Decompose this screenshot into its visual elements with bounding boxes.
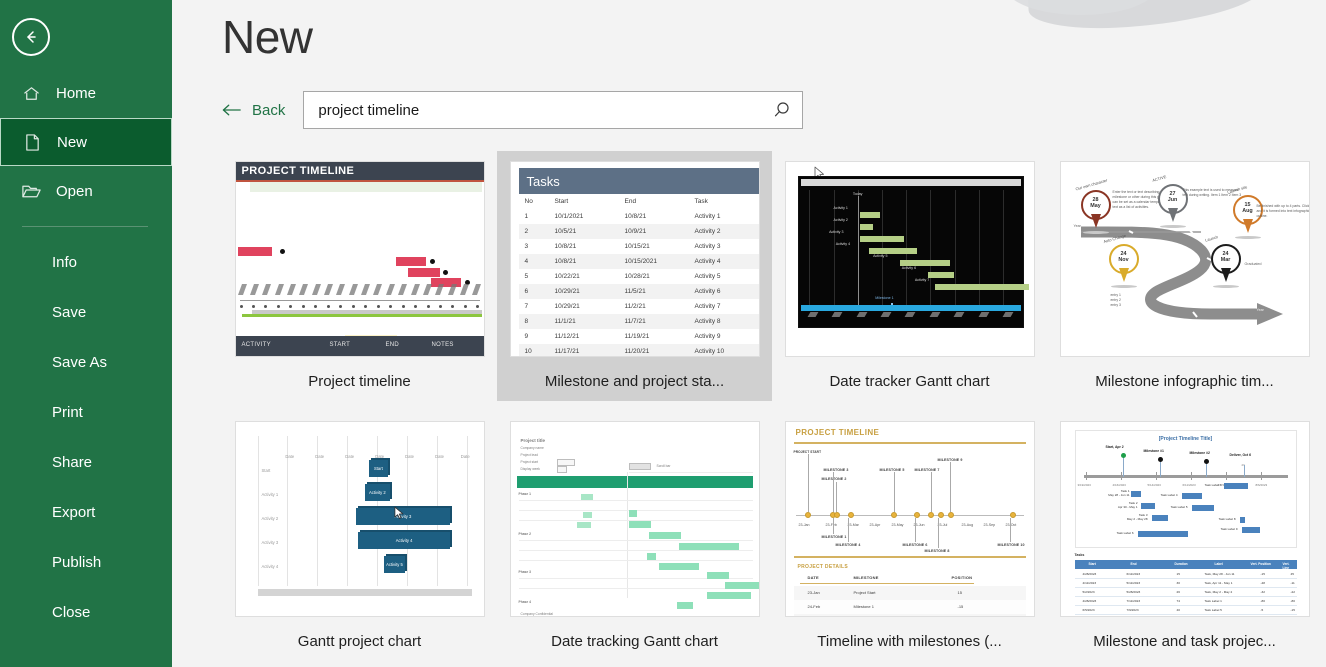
back-circle-button[interactable] [12,18,50,56]
table-row: 4 10/8/21 10/15/2021 Activity 4 [519,254,759,269]
back-link[interactable]: Back [222,102,285,119]
backstage-sidebar: Home New Open Info Save [0,0,172,667]
new-template-pane: New Back [172,0,1326,667]
table-row [794,586,1026,600]
thumb6-bar [659,563,699,570]
thumb8-canvas: [Project Timeline Title] 3/19/2023 4/16/… [1061,422,1309,616]
sidebar-item-close[interactable]: Close [0,587,172,637]
sidebar-item-label: New [57,134,87,151]
thumb3-bar [860,224,873,230]
template-card-label: Project timeline [308,373,411,390]
arrow-left-icon [222,103,243,117]
sidebar-item-share[interactable]: Share [0,437,172,487]
table-row: 4/11/2023 5/11/2023 30 Task, Apr 11 - Ma… [1075,579,1297,588]
sidebar-item-label: Export [52,504,95,521]
table-row: 8 11/1/21 11/7/21 Activity 8 [519,314,759,329]
template-card-milestone-and-project-status[interactable]: Tasks No Start End Task 1 10/1/2021 [497,151,772,401]
thumb1-col-activity: ACTIVITY [242,342,271,348]
table-row: 4/28/2023 7/11/2023 74 Task Label 1 -80 … [1075,597,1297,606]
thumb7-canvas: PROJECT TIMELINE PROJECT START MILESTONE… [786,422,1034,616]
thumb6-bar [647,553,656,560]
thumb8-bar [1242,527,1260,533]
thumb7-rule [794,556,1026,557]
sidebar-item-info[interactable]: Info [0,237,172,287]
table-row: 5 10/22/21 10/28/21 Activity 5 [519,269,759,284]
back-link-label: Back [252,102,285,119]
thumb2-table: No Start End Task 1 10/1/2021 10/8/21 Ac… [519,194,759,332]
search-row: Back [222,91,1326,129]
thumb1-chip-milestone-1 [396,257,426,266]
template-card-label: Date tracking Gantt chart [551,633,718,650]
thumb4-pin: Our own character 28May [1081,190,1111,234]
thumb3-timeline-bar [801,305,1021,311]
thumb8-bar [1192,505,1214,511]
template-card-date-tracking-gantt-chart[interactable]: Project title Company name Project lead … [497,411,772,661]
thumb8-bar [1224,483,1248,489]
template-card-date-tracker-gantt-chart[interactable]: Today Activity 1 Activity 2 Activity 3 A… [772,151,1047,401]
thumb5-bar: Activity 5 [384,556,405,573]
thumb3-top-strip [801,179,1021,186]
thumb3-today-label: Today [853,192,863,196]
thumb6-bar [629,521,651,528]
thumb8-title: [Project Timeline Title] [1076,436,1296,442]
sidebar-item-save[interactable]: Save [0,287,172,337]
thumb1-dot [443,270,448,275]
thumb1-axis [240,300,480,301]
template-thumbnail: Our own character 28May Enter the text o… [1060,161,1310,357]
search-input[interactable] [318,102,772,119]
thumb3-today-line [858,196,859,305]
thumb7-rule [794,442,1026,443]
thumb1-col-notes: NOTES [432,342,454,348]
sidebar-item-label: Publish [52,554,101,571]
sidebar-item-save-as[interactable]: Save As [0,337,172,387]
table-row: 3 10/8/21 10/15/21 Activity 3 [519,239,759,254]
page-icon [21,133,43,152]
table-row: 6/5/2023 7/9/2023 40 Task Label 5 -5 -15 [1075,606,1297,615]
thumb5-bar: Activity 2 [365,484,391,501]
thumb5-bar: Start [369,460,388,477]
sidebar-item-label: Close [52,604,90,621]
thumb1-chip-project-start [238,247,272,256]
thumb2-col-task: Task [695,198,759,205]
thumb6-bar [679,543,739,550]
thumb3-bar [860,212,880,218]
thumb6-canvas: Project title Company name Project lead … [511,422,759,616]
thumb3-date-ticks [801,312,1021,325]
thumb8-chart: [Project Timeline Title] 3/19/2023 4/16/… [1075,430,1297,548]
thumb6-bar [707,572,729,579]
sidebar-item-print[interactable]: Print [0,387,172,437]
sidebar-item-export[interactable]: Export [0,487,172,537]
thumb1-dot [430,259,435,264]
table-row: 6 10/29/21 11/5/21 Activity 6 [519,284,759,299]
mouse-cursor-icon [394,506,404,520]
template-thumbnail: Project title Company name Project lead … [510,421,760,617]
folder-icon [20,182,42,200]
thumb2-col-no: No [519,198,555,205]
thumb6-bar [725,582,760,589]
thumb8-table-title: Tasks [1075,553,1085,557]
thumb2-title: Tasks [519,168,759,194]
table-row: 7 10/29/21 11/2/21 Activity 7 [519,299,759,314]
thumb3-plot: Today Activity 1 Activity 2 Activity 3 A… [801,190,1021,305]
thumb6-bar [707,592,751,599]
thumb6-toolbar-button [629,463,651,470]
template-card-label: Timeline with milestones (... [817,633,1002,650]
thumb2-col-end: End [625,198,695,205]
thumb2-header-row: No Start End Task [519,194,759,209]
template-card-label: Milestone and project sta... [545,373,724,390]
table-row: 9 11/12/21 11/19/21 Activity 9 [519,329,759,344]
template-search-box[interactable] [303,91,803,129]
thumb3-bar [860,236,904,242]
table-row: 4/28/2023 6/11/2023 15 Task, May 28 - Ju… [1075,570,1297,579]
thumb5-scrollbar[interactable] [258,589,472,596]
excel-backstage-new-screen: Home New Open Info Save [0,0,1326,667]
thumb6-bar [629,510,637,517]
sidebar-item-label: Save As [52,354,107,371]
table-row [794,614,1026,617]
thumb8-bar [1182,493,1202,499]
template-card-label: Gantt project chart [298,633,421,650]
template-card-milestone-infographic-timeline[interactable]: Our own character 28May Enter the text o… [1047,151,1322,401]
thumb4-canvas: Our own character 28May Enter the text o… [1061,162,1309,356]
thumb4-pin: Auto Change 24Nov [1109,244,1139,288]
template-card-gantt-project-chart[interactable]: Date Date Date Date Date Date Date Start… [222,411,497,661]
thumb3-bar [928,272,954,278]
sidebar-item-open[interactable]: Open [0,166,172,216]
template-thumbnail: [Project Timeline Title] 3/19/2023 4/16/… [1060,421,1310,617]
template-thumbnail: Date Date Date Date Date Date Date Start… [235,421,485,617]
thumb5-grid: Date Date Date Date Date Date Date Start… [258,446,472,586]
home-icon [20,84,42,103]
template-thumbnail: PROJECT TIMELINE PROJECT START MILESTONE… [785,421,1035,617]
table-row [794,600,1026,614]
thumb3-chart: Today Activity 1 Activity 2 Activity 3 A… [798,176,1024,328]
thumb6-bar [649,532,681,539]
template-card-label: Milestone infographic tim... [1095,373,1273,390]
template-card-timeline-with-milestones[interactable]: PROJECT TIMELINE PROJECT START MILESTONE… [772,411,1047,661]
page-title: New [222,10,1326,65]
table-row: 10 11/17/21 11/20/21 Activity 10 [519,344,759,357]
thumb8-axis [1084,475,1288,478]
sidebar-item-label: Save [52,304,86,321]
template-thumbnail: Today Activity 1 Activity 2 Activity 3 A… [785,161,1035,357]
thumb1-table-header: ACTIVITY START END NOTES [236,336,484,356]
template-card-milestone-and-task-project[interactable]: [Project Timeline Title] 3/19/2023 4/16/… [1047,411,1322,661]
thumb1-green-rule [242,314,482,317]
sidebar-item-new[interactable]: New [0,118,172,166]
thumb5-bar: Activity 4 [358,532,450,549]
thumb1-dot [280,249,285,254]
thumb8-bar [1152,515,1168,521]
sidebar-item-publish[interactable]: Publish [0,537,172,587]
sidebar-item-home[interactable]: Home [0,68,172,118]
sidebar-item-label: Print [52,404,83,421]
sidebar-item-label: Home [56,85,96,102]
thumb8-table-header: Start End Duration Label Vert. Position … [1075,560,1297,569]
sidebar-item-label: Share [52,454,92,471]
sidebar-item-label: Open [56,183,93,200]
thumb8-bar [1240,517,1245,523]
thumb1-chip-milestone-2 [408,268,440,277]
table-row: 5/2/2023 5/28/2023 26 Task, May 2 - May … [1075,588,1297,597]
thumb1-band [250,182,482,192]
thumb7-title: PROJECT TIMELINE [796,428,880,437]
template-card-project-timeline[interactable]: PROJECT TIMELINE [222,151,497,401]
template-card-label: Milestone and task projec... [1093,633,1276,650]
thumb2-col-start: Start [555,198,625,205]
thumb4-note-list: entry 1entry 2entry 3 [1111,293,1137,308]
thumb6-bar [677,602,693,609]
thumb5-canvas: Date Date Date Date Date Date Date Start… [236,422,484,616]
template-thumbnail: Tasks No Start End Task 1 10/1/2021 [510,161,760,357]
table-row: 2 10/5/21 10/9/21 Activity 2 [519,224,759,239]
arrow-left-icon [21,27,41,47]
thumb3-bar [935,284,1030,290]
thumb1-col-end: END [386,342,400,348]
thumb1-header: PROJECT TIMELINE [236,162,484,180]
search-icon[interactable] [772,100,792,120]
template-card-label: Date tracker Gantt chart [829,373,989,390]
table-row: 1 10/1/2021 10/8/21 Activity 1 [519,209,759,224]
thumb2-sheet: Tasks No Start End Task 1 10/1/2021 [511,162,759,356]
thumb4-pin: Launch 24Mar [1211,244,1241,288]
sidebar-item-label: Info [52,254,77,271]
template-grid: PROJECT TIMELINE [222,151,1326,667]
thumb6-header-band [517,476,753,488]
template-thumbnail: PROJECT TIMELINE [235,161,485,357]
thumb1-date-ticks [240,284,480,298]
thumb8-bar [1138,531,1188,537]
thumb1-col-start: START [330,342,351,348]
sidebar-divider [22,226,148,227]
